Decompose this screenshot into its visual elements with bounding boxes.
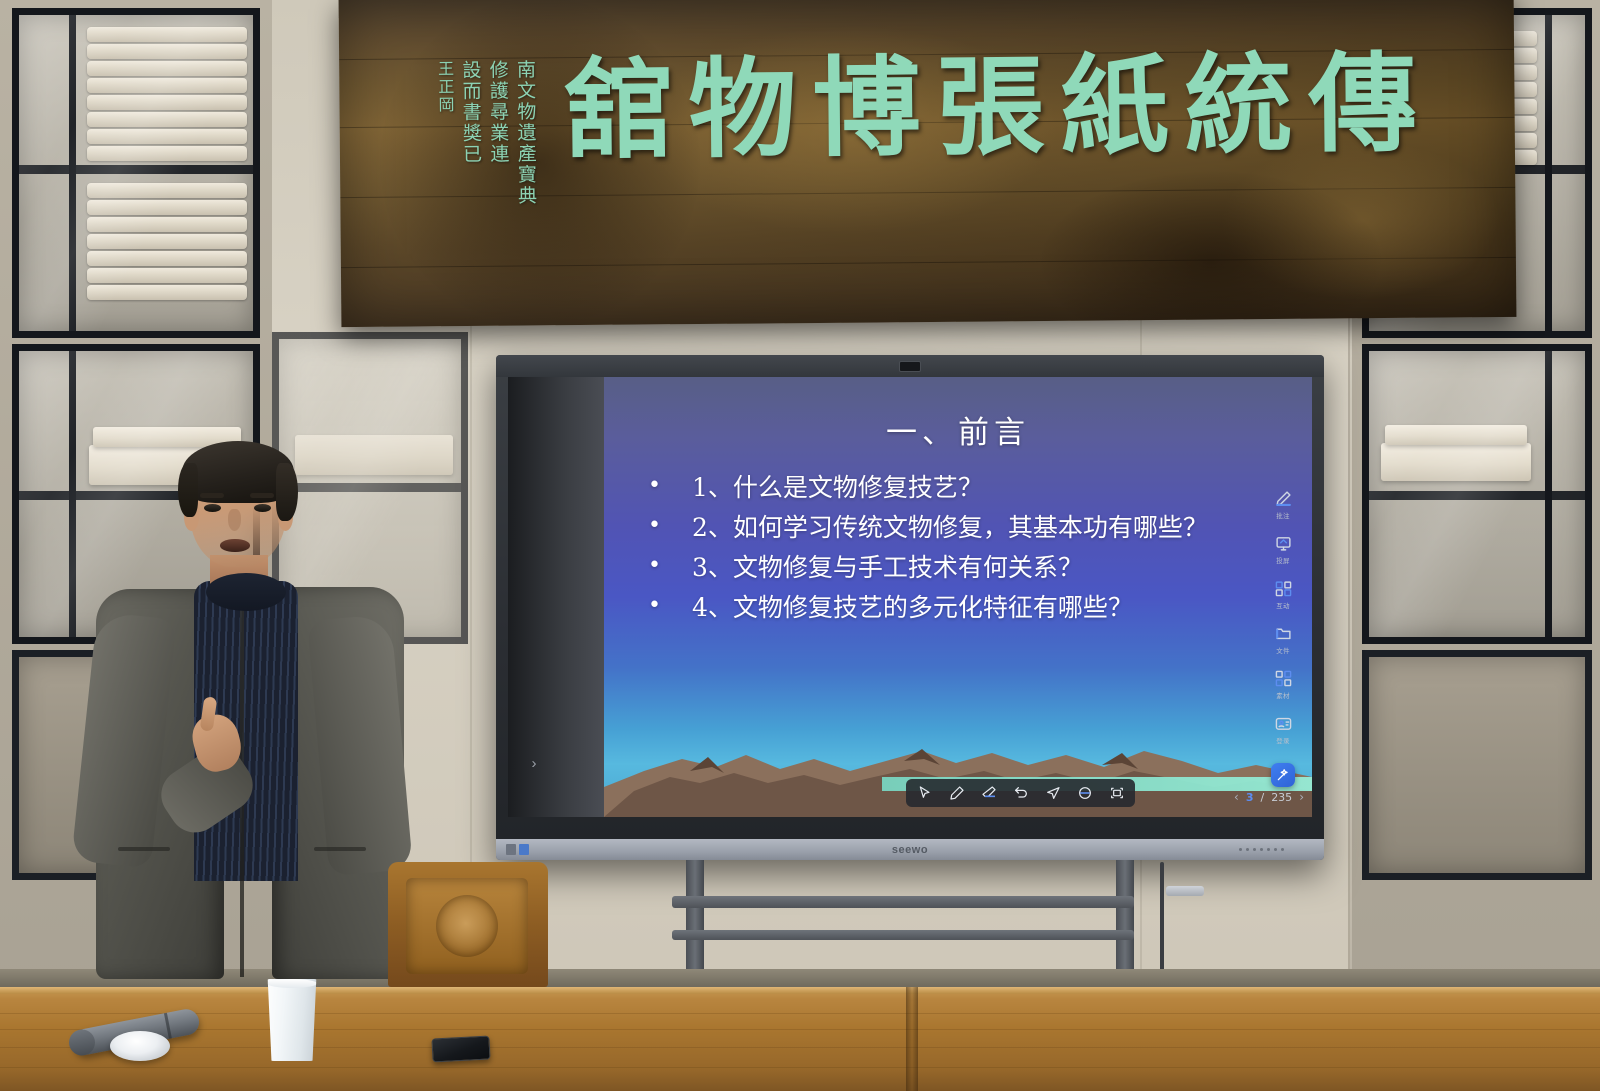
sweater-collar [206, 573, 286, 611]
wooden-chair [388, 862, 548, 987]
bullet-marker: • [648, 469, 692, 502]
bullet-text: 4、文物修复技艺的多元化特征有哪些？ [692, 593, 1133, 622]
pen-icon[interactable] [948, 785, 965, 802]
undo-icon[interactable] [1012, 785, 1029, 802]
chair-carving [436, 895, 498, 957]
eyebrow-left [200, 493, 224, 498]
board-bottom-bezel: seewo [496, 839, 1324, 860]
slide-pager: ‹ 3 / 235 › [1234, 790, 1304, 804]
microphone-ring [164, 1013, 172, 1039]
presenter-person [78, 447, 418, 987]
rail-item-cast[interactable]: 投屏 [1274, 534, 1293, 565]
board-top-bezel [496, 355, 1324, 377]
camera-icon [899, 361, 921, 372]
rail-item-material[interactable]: 素材 [1274, 669, 1293, 700]
museum-name-text: 舘物博張紙統傳 [564, 47, 1495, 169]
list-item: •4、文物修复技艺的多元化特征有哪些？ [648, 589, 1280, 627]
lecture-room-scene: 南文物遺產寶典 修護尋業連 設而書獎已 王正岡 舘物博張紙統傳 一、前言 •1、… [0, 0, 1600, 1091]
rail-item-interact[interactable]: 互动 [1274, 579, 1293, 610]
prev-slide-button[interactable]: ‹ [1234, 790, 1239, 804]
nose [228, 509, 241, 531]
bullet-marker: • [648, 589, 692, 622]
cable-clip [1166, 886, 1204, 896]
rail-label: 批注 [1276, 510, 1290, 520]
jacket-pocket-left [118, 847, 170, 851]
screen-left-darkband [508, 377, 604, 817]
login-card-icon [1274, 714, 1293, 733]
presentation-slide: 一、前言 •1、什么是文物修复技艺？ •2、如何学习传统文物修复，其基本功有哪些… [604, 377, 1312, 817]
mouth [220, 539, 250, 552]
plaque-col-signature: 王正岡 [435, 60, 454, 207]
hair-side-right [276, 463, 298, 521]
wooden-table [0, 987, 1600, 1091]
rail-label: 登录 [1276, 735, 1290, 745]
cabinet-left-glass-upper [12, 8, 260, 338]
ceramic-cup[interactable] [265, 979, 319, 1061]
io-port-icon [506, 844, 516, 855]
plaque-col-2: 修護尋業連 [486, 60, 509, 207]
chair-back-panel [406, 878, 528, 974]
cabinet-right-drawer [1362, 650, 1592, 880]
rail-label: 素材 [1276, 690, 1290, 700]
next-slide-button[interactable]: › [1299, 790, 1304, 804]
stand-crossbar-upper [672, 896, 1134, 908]
folder-file-icon [1274, 624, 1293, 643]
screen-cast-icon [1274, 534, 1293, 553]
io-port-icon [519, 844, 529, 855]
interact-icon [1274, 579, 1293, 598]
smart-board: 一、前言 •1、什么是文物修复技艺？ •2、如何学习传统文物修复，其基本功有哪些… [496, 355, 1324, 860]
board-right-rail: 批注 投屏 [1260, 489, 1306, 787]
bullet-marker: • [648, 509, 692, 542]
screenshot-icon[interactable] [1108, 785, 1125, 802]
chevron-right-icon[interactable]: › [526, 749, 542, 777]
hair-side-left [178, 463, 198, 517]
eraser-icon[interactable] [980, 785, 997, 802]
board-screen[interactable]: 一、前言 •1、什么是文物修复技艺？ •2、如何学习传统文物修复，其基本功有哪些… [508, 377, 1312, 817]
rail-item-annotate[interactable]: 批注 [1274, 489, 1293, 520]
board-io-badges [506, 844, 529, 855]
list-item: •2、如何学习传统文物修复，其基本功有哪些？ [648, 509, 1280, 547]
eye-left [204, 504, 221, 512]
bullet-text: 2、如何学习传统文物修复，其基本功有哪些？ [692, 513, 1208, 542]
rail-item-login[interactable]: 登录 [1274, 714, 1293, 745]
board-brand-label: seewo [892, 844, 928, 856]
stand-crossbar-lower [672, 930, 1134, 940]
plaque-col-3: 設而書獎已 [459, 60, 482, 207]
museum-wooden-plaque: 南文物遺產寶典 修護尋業連 設而書獎已 王正岡 舘物博張紙統傳 [339, 0, 1517, 327]
cursor-select-icon[interactable] [916, 785, 933, 802]
eyebrow-right [250, 493, 274, 498]
list-item: •3、文物修复与手工技术有何关系？ [648, 549, 1280, 587]
slide-title: 一、前言 [604, 407, 1312, 452]
rail-label: 投屏 [1276, 555, 1290, 565]
apps-grid-icon [1274, 669, 1293, 688]
jacket-pocket-right [314, 847, 366, 851]
board-indicator-dots [1239, 848, 1284, 851]
annotation-toolbar [906, 779, 1135, 807]
laser-pointer-icon[interactable] [1044, 785, 1061, 802]
magic-wand-icon[interactable] [1271, 763, 1295, 787]
list-item: •1、什么是文物修复技艺？ [648, 469, 1280, 507]
bullet-marker: • [648, 549, 692, 582]
plaque-col-1: 南文物遺產寶典 [514, 59, 537, 206]
page-separator: / [1260, 791, 1264, 804]
cup-rim [267, 979, 317, 988]
cabinet-right-glass-lower [1362, 344, 1592, 644]
rail-item-file[interactable]: 文件 [1274, 624, 1293, 655]
slide-bullet-list: •1、什么是文物修复技艺？ •2、如何学习传统文物修复，其基本功有哪些？ •3、… [648, 469, 1280, 629]
pen-annotate-icon [1274, 489, 1293, 508]
eye-right [254, 504, 271, 512]
total-page-count: 235 [1271, 791, 1292, 804]
plaque-side-inscription: 南文物遺產寶典 修護尋業連 設而書獎已 王正岡 [435, 59, 536, 207]
spotlight-icon[interactable] [1076, 785, 1093, 802]
current-page-number: 3 [1246, 791, 1254, 804]
bullet-text: 1、什么是文物修复技艺？ [692, 473, 983, 502]
table-edge [0, 987, 1600, 994]
rail-label: 文件 [1276, 645, 1290, 655]
rail-label: 互动 [1276, 600, 1290, 610]
bullet-text: 3、文物修复与手工技术有何关系？ [692, 553, 1083, 582]
smartphone[interactable] [431, 1035, 490, 1062]
microphone-holder[interactable] [110, 1031, 170, 1061]
table-seam [906, 987, 918, 1091]
